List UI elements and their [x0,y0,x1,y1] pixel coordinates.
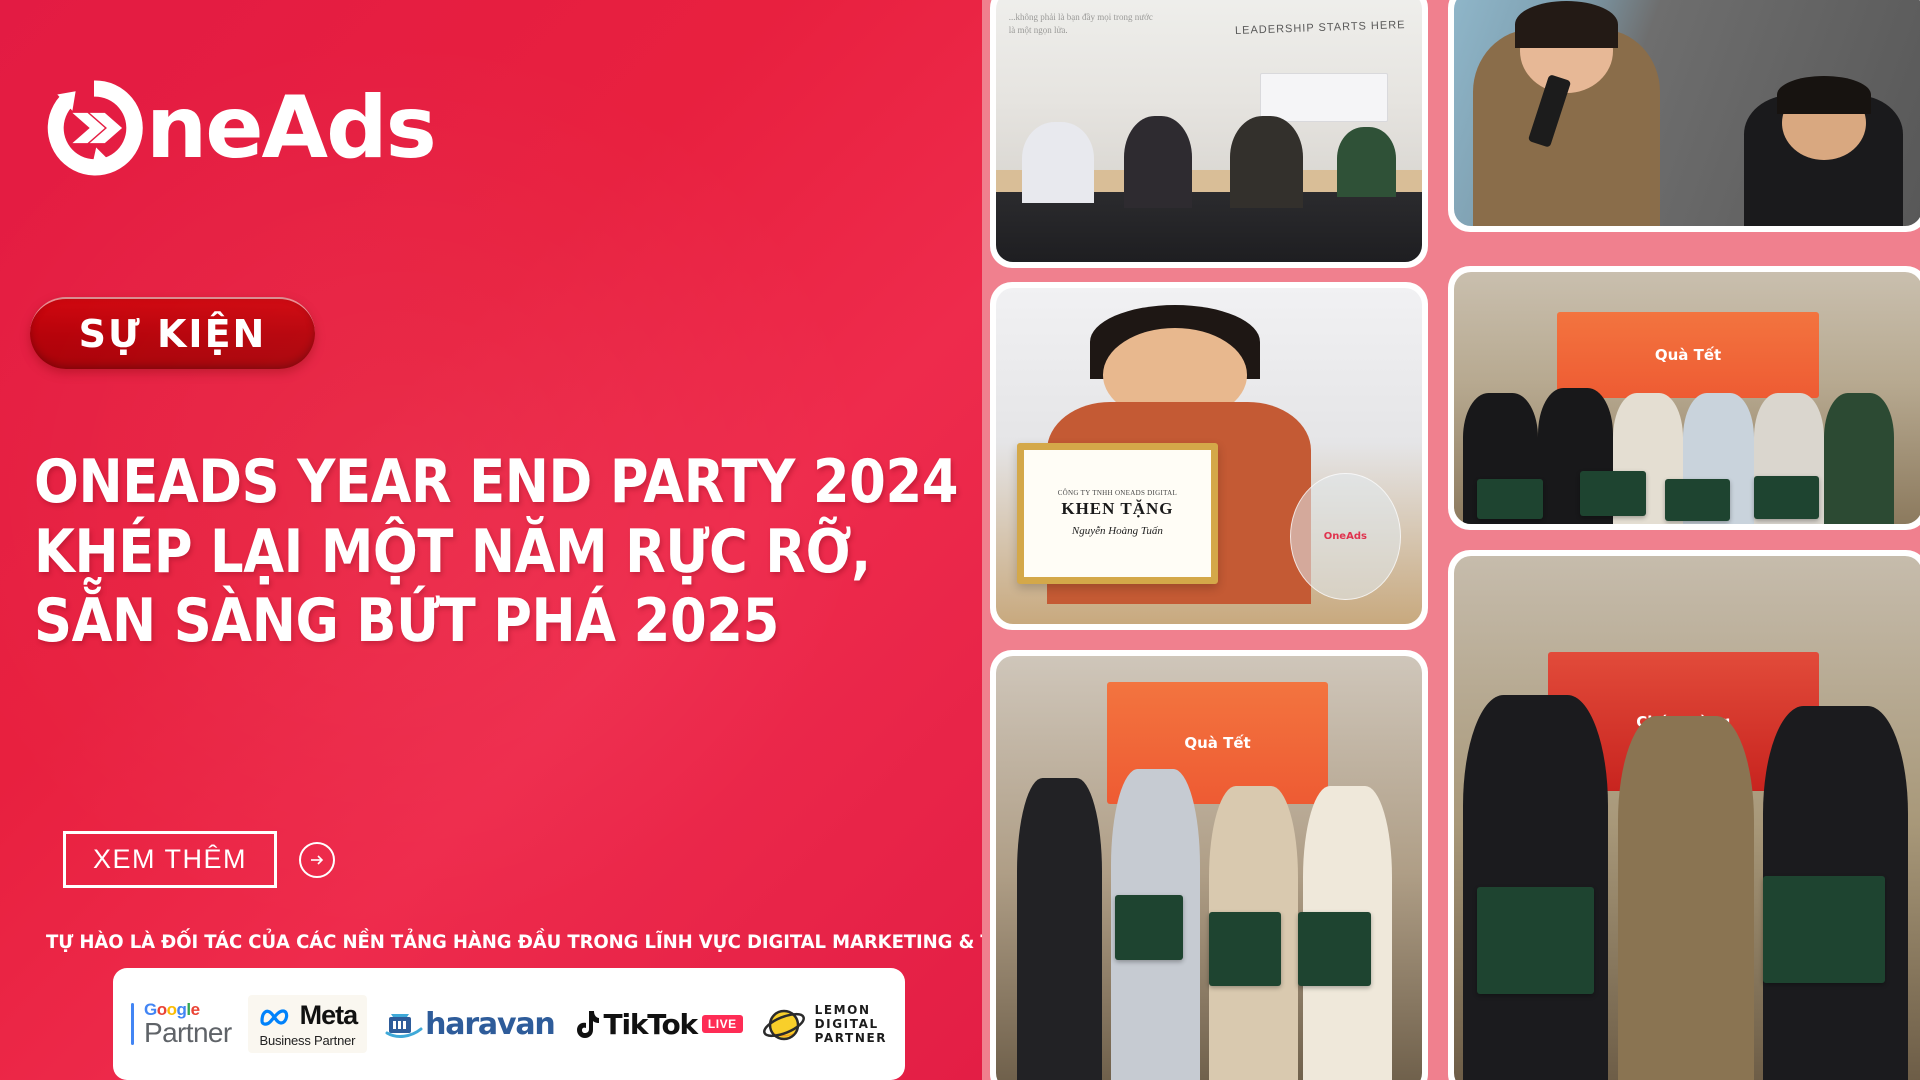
certificate-recipient-name: Nguyễn Hoàng Tuấn [1072,525,1163,537]
photo-1-wall-text: LEADERSHIP STARTS HERE [1234,19,1405,37]
photo-6-gift-bag [1477,887,1594,994]
partner-logo-meta[interactable]: Meta Business Partner [232,992,368,1056]
partner-logo-tiktok[interactable]: TikTok LIVE [573,992,743,1056]
hero-banner: neAds SỰ KIỆN ONEADS YEAR END PARTY 2024… [0,0,1920,1080]
photo-1-person [1230,116,1302,208]
lemon-line-3: PARTNER [815,1031,888,1045]
certificate-organization: CÔNG TY TNHH ONEADS DIGITAL [1058,489,1177,497]
page-title: ONEADS YEAR END PARTY 2024 KHÉP LẠI MỘT … [34,448,964,657]
photo-5-gift-box [1298,912,1370,986]
photo-1-person [1337,127,1397,197]
photo-4-person [1824,393,1894,524]
arrow-right-circle-icon[interactable] [299,842,335,878]
photo-6-gift-bag [1763,876,1885,983]
meta-infinity-icon [258,1005,294,1027]
haravan-wordmark: haravan [425,1007,554,1042]
headline-line-2: KHÉP LẠI MỘT NĂM RỰC RỠ, [34,518,852,588]
partner-logo-lemon-digital[interactable]: LEMON DIGITAL PARTNER [761,992,888,1056]
photo-5-gift-box [1209,912,1281,986]
photo-speaker-microphone [1448,0,1920,232]
headline-line-3: SẴN SÀNG BỨT PHÁ 2025 [34,587,852,657]
cta-group: XEM THÊM [63,831,335,888]
photo-4-screen: Quà Tết [1557,312,1819,398]
photo-2-listener-hair [1777,76,1871,113]
photo-4-gift-box [1580,471,1646,516]
event-badge-label: SỰ KIỆN [79,315,267,353]
photo-three-members-gifts: Chúc mừng [1448,550,1920,1080]
lemon-line-2: DIGITAL [815,1017,888,1031]
google-partner-label: Partner [144,1019,232,1047]
photo-1-quote-text: ...không phải là bạn đầy mọi trong nước … [1009,11,1154,38]
trophy-brand-text: OneAds [1324,531,1367,542]
photo-four-members-gifts: Quà Tết [990,650,1428,1080]
photo-4-gift-box [1477,479,1543,519]
haravan-shop-icon [383,1007,423,1041]
photo-1-person [1022,122,1094,203]
oneads-circular-arrow-logo-icon [40,74,148,182]
photo-6-person [1618,716,1754,1080]
photo-4-screen-text: Quà Tết [1655,346,1721,364]
certificate-title: KHEN TẶNG [1061,499,1173,519]
photo-1-presentation-screen [1260,73,1388,122]
photo-team-gift-group: Quà Tết [1448,266,1920,530]
photo-3-certificate: CÔNG TY TNHH ONEADS DIGITAL KHEN TẶNG Ng… [1017,443,1217,584]
lemon-line-1: LEMON [815,1003,888,1017]
left-content-panel: neAds SỰ KIỆN ONEADS YEAR END PARTY 2024… [0,0,982,1080]
partner-caption: TỰ HÀO LÀ ĐỐI TÁC CỦA CÁC NỀN TẢNG HÀNG … [46,931,920,953]
read-more-button[interactable]: XEM THÊM [63,831,277,888]
photo-2-speaker-hair [1515,1,1618,48]
photo-5-screen-text: Quà Tết [1184,734,1250,752]
meta-wordmark: Meta [300,1000,358,1031]
photo-award-certificate: CÔNG TY TNHH ONEADS DIGITAL KHEN TẶNG Ng… [990,282,1428,630]
headline-line-1: ONEADS YEAR END PARTY 2024 [34,448,852,518]
tiktok-live-badge: LIVE [702,1015,743,1033]
photo-5-person [1017,778,1102,1080]
tiktok-wordmark: TikTok [604,1008,697,1041]
event-badge: SỰ KIỆN [30,297,315,369]
meta-business-partner-label: Business Partner [259,1033,355,1048]
read-more-button-label: XEM THÊM [93,844,247,875]
partner-logo-haravan[interactable]: haravan [383,992,554,1056]
lemon-planet-icon [761,1002,807,1046]
photo-5-gift-box [1115,895,1183,960]
brand-wordmark: neAds [146,85,435,171]
photo-4-gift-box [1754,476,1820,519]
arrow-right-glyph [307,850,327,870]
tiktok-note-icon [573,1009,599,1039]
partner-logo-strip: Google Partner Meta Business Partner [113,968,905,1080]
photo-collage: ...không phải là bạn đầy mọi trong nước … [982,0,1920,1080]
google-blue-bar-icon [131,1003,134,1045]
brand-logo[interactable]: neAds [40,74,449,182]
photo-3-trophy: OneAds [1290,473,1401,601]
partner-logo-google[interactable]: Google Partner [131,992,232,1056]
google-wordmark: Google [144,1001,232,1018]
photo-4-gift-box [1665,479,1731,522]
photo-1-person [1124,116,1192,208]
photo-workshop-room: ...không phải là bạn đầy mọi trong nước … [990,0,1428,268]
